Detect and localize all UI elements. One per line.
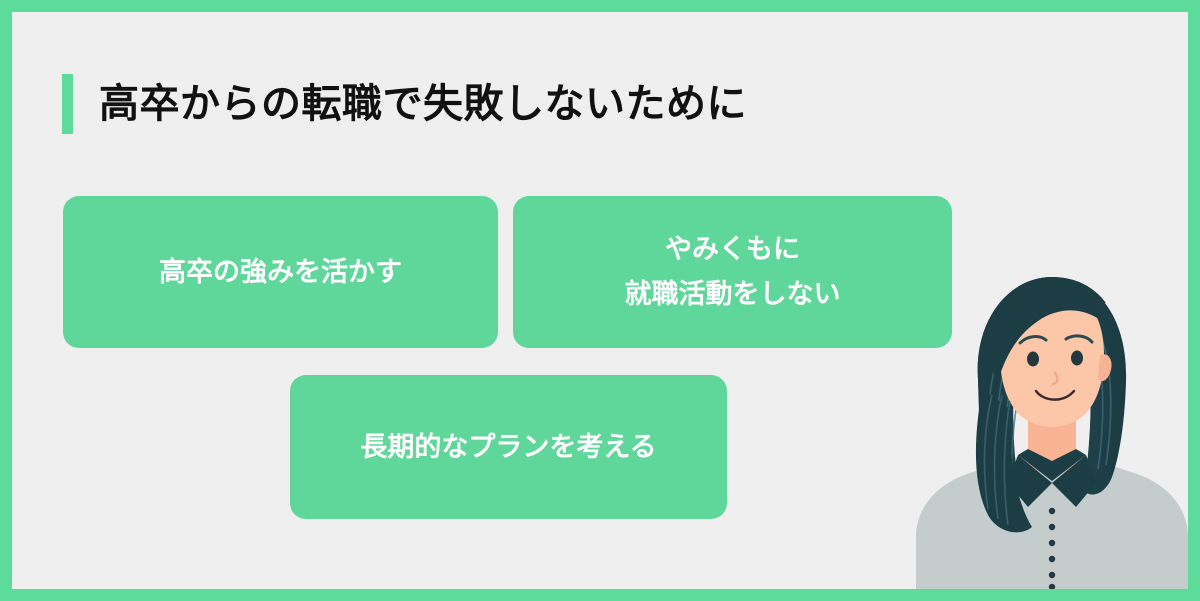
card-no-blind-search[interactable]: やみくもに 就職活動をしない xyxy=(513,196,952,348)
card-long-term-plan-label: 長期的なプランを考える xyxy=(360,425,656,470)
smiling-woman-illustration xyxy=(916,269,1188,589)
card-strengths[interactable]: 高卒の強みを活かす xyxy=(63,196,498,348)
title-accent-bar xyxy=(62,74,73,134)
page-title: 高卒からの転職で失敗しないために xyxy=(99,84,747,124)
card-no-blind-search-label: やみくもに 就職活動をしない xyxy=(625,227,841,317)
page-title-row: 高卒からの転職で失敗しないために xyxy=(62,74,747,134)
content-panel: 高卒からの転職で失敗しないために 高卒の強みを活かす やみくもに 就職活動をしな… xyxy=(12,12,1188,589)
card-long-term-plan[interactable]: 長期的なプランを考える xyxy=(290,375,727,519)
card-strengths-label: 高卒の強みを活かす xyxy=(159,250,402,295)
poster-canvas: 高卒からの転職で失敗しないために 高卒の強みを活かす やみくもに 就職活動をしな… xyxy=(0,0,1200,601)
